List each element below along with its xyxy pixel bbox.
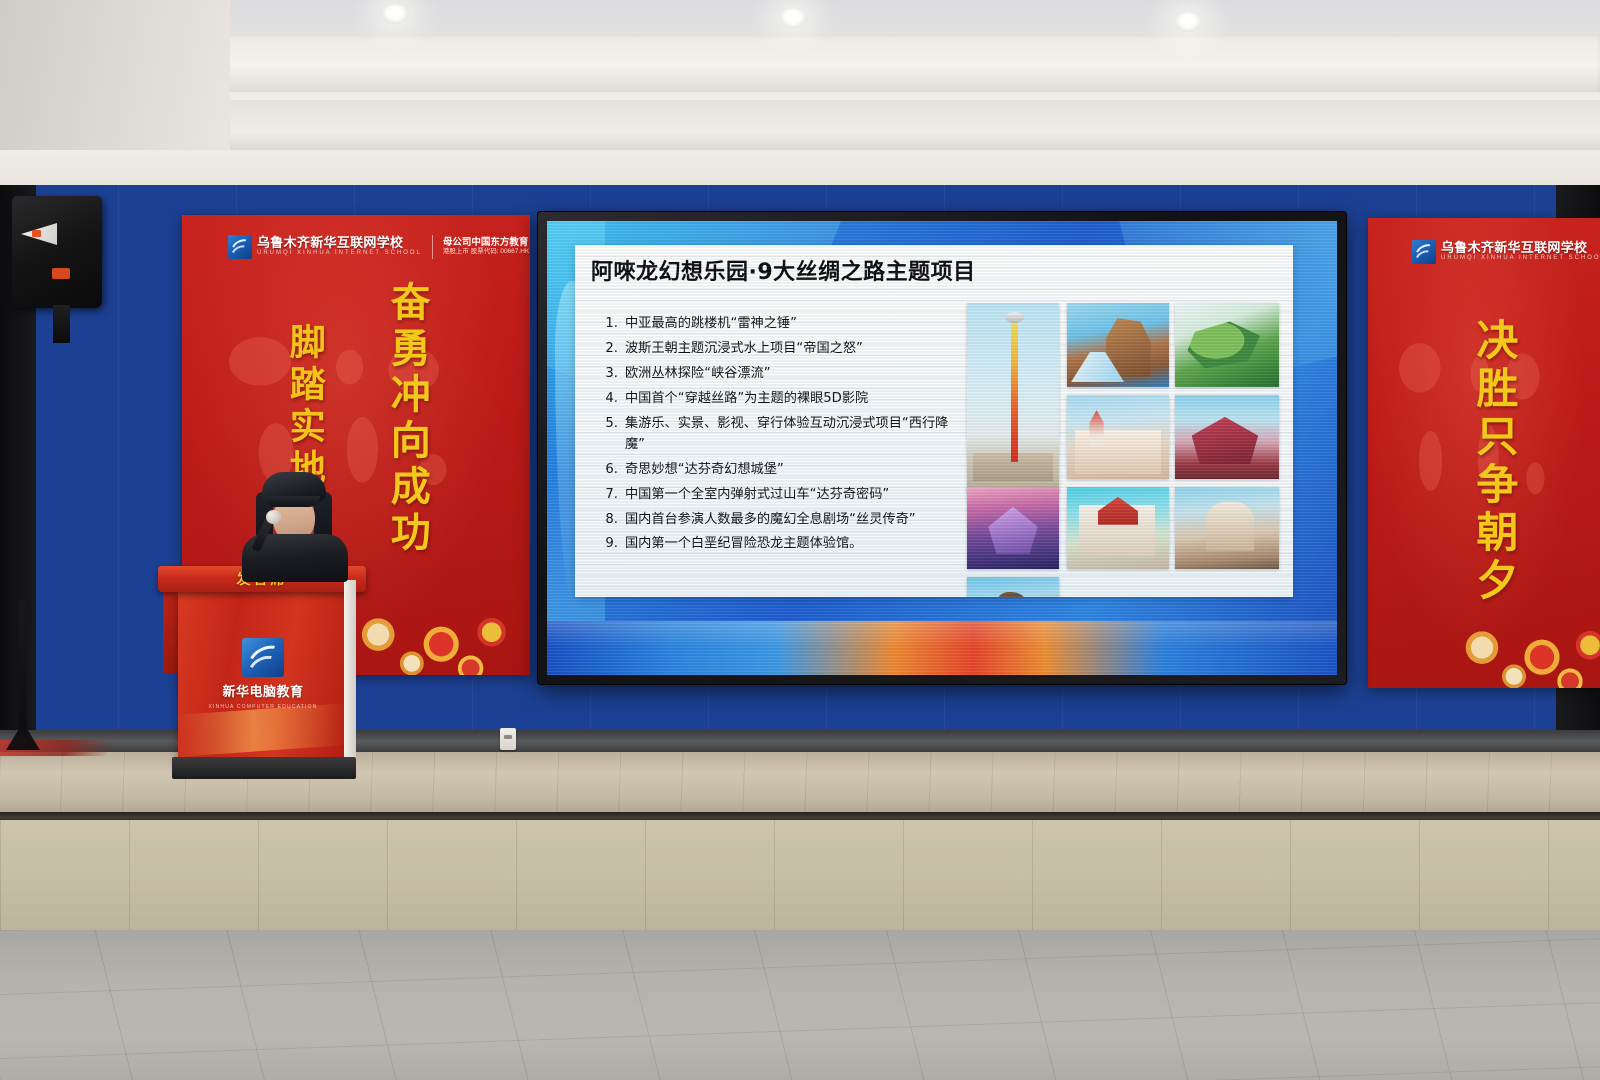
banner-left-logo-en: URUMQI XINHUA INTERNET SCHOOL — [257, 250, 422, 258]
podium-right-post — [344, 580, 356, 770]
list-item: 9. 国内第一个白垩纪冒险恐龙主题体验馆。 — [601, 533, 961, 554]
list-item-text: 中亚最高的跳楼机“雷神之锤” — [625, 313, 961, 334]
list-item-text: 国内第一个白垩纪冒险恐龙主题体验馆。 — [625, 533, 961, 554]
stage-front-panel — [0, 820, 1600, 932]
xinhua-logo-icon: ® — [242, 638, 284, 677]
ceiling-coffer-inner — [215, 100, 1600, 152]
ceiling-coffer-outer — [120, 34, 1600, 92]
list-item: 1. 中亚最高的跳楼机“雷神之锤” — [601, 313, 961, 334]
slide-bullet-list: 1. 中亚最高的跳楼机“雷神之锤” 2. 波斯王朝主题沉浸式水上项目“帝国之怒”… — [601, 313, 961, 558]
list-item-text: 欧洲丛林探险“峡谷漂流” — [625, 363, 961, 384]
list-item-text: 奇思妙想“达芬奇幻想城堡” — [625, 459, 961, 480]
list-item: 2. 波斯王朝主题沉浸式水上项目“帝国之怒” — [601, 338, 961, 359]
list-item: 4. 中国首个“穿越丝路”为主题的裸眼5D影院 — [601, 388, 961, 409]
photo-water-flume-castle — [1067, 303, 1169, 387]
screen-bg-bottom-band — [547, 621, 1337, 675]
photo-dinosaur-museum-gate — [967, 577, 1059, 597]
list-item-text: 国内首台参演人数最多的魔幻全息剧场“丝灵传奇” — [625, 509, 961, 530]
list-item-number: 7. — [601, 484, 618, 505]
photo-drop-tower-ride — [967, 303, 1059, 493]
banner-right: 乌鲁木齐新华互联网学校 URUMQI XINHUA INTERNET SCHOO… — [1368, 218, 1600, 688]
banner-right-slogan-main: 决胜只争朝夕 — [1472, 318, 1515, 606]
photo-night-pagoda-plaza — [967, 487, 1059, 569]
downlight-icon — [779, 8, 807, 28]
banner-right-logo-en: URUMQI XINHUA INTERNET SCHOOL — [1441, 255, 1600, 263]
list-item-text: 波斯王朝主题沉浸式水上项目“帝国之怒” — [625, 338, 961, 359]
list-item-text: 中国首个“穿越丝路”为主题的裸眼5D影院 — [625, 388, 961, 409]
list-item: 6. 奇思妙想“达芬奇幻想城堡” — [601, 459, 961, 480]
logo-divider — [432, 235, 433, 259]
photo-chinese-temple-gate — [1175, 395, 1279, 479]
list-item-text: 中国第一个全室内弹射式过山车“达芬奇密码” — [625, 484, 961, 505]
list-item: 7. 中国第一个全室内弹射式过山车“达芬奇密码” — [601, 484, 961, 505]
podium-brand-en: XINHUA COMPUTER EDUCATION — [208, 704, 317, 710]
list-item-number: 8. — [601, 509, 618, 530]
list-item-number: 9. — [601, 533, 618, 554]
tower-shaft — [1011, 320, 1018, 462]
list-item-text: 集游乐、实景、影视、穿行体验互动沉浸式项目“西行降魔” — [625, 413, 961, 456]
podium-brand-cn: 新华电脑教育 — [223, 681, 304, 700]
photo-fairytale-castle — [1067, 487, 1169, 569]
cap-brim — [264, 496, 320, 507]
power-outlet-icon — [500, 728, 516, 750]
list-item-number: 1. — [601, 313, 618, 334]
podium-brand-block: ® 新华电脑教育 XINHUA COMPUTER EDUCATION — [232, 638, 294, 710]
podium-base — [172, 757, 356, 779]
speaker-brand-logo — [52, 268, 70, 279]
jbl-speaker-icon — [12, 196, 102, 308]
led-screen-surface: 阿唻龙幻想乐园·9大丝绸之路主题项目 1. 中亚最高的跳楼机“雷神之锤” 2. … — [547, 221, 1337, 675]
banner-left-parent-company: 母公司中国东方教育 — [443, 237, 529, 248]
banner-right-logo-cn: 乌鲁木齐新华互联网学校 — [1441, 241, 1600, 255]
speaker-mount-bracket — [53, 305, 70, 343]
photo-park-aerial-map — [1175, 303, 1279, 387]
downlight-icon — [1174, 12, 1202, 32]
microphone-head — [266, 510, 281, 524]
photo-classical-plaza-dome — [1175, 487, 1279, 569]
list-item-number: 3. — [601, 363, 618, 384]
banner-left-logo-cn: 乌鲁木齐新华互联网学校 — [257, 236, 422, 250]
banner-left-slogan-secondary: 脚踏实地 — [286, 323, 323, 491]
tower-top-cabin — [1005, 312, 1024, 323]
auditorium-scene: 乌鲁木齐新华互联网学校 URUMQI XINHUA INTERNET SCHOO… — [0, 0, 1600, 1080]
banner-left-slogan-main: 奋勇冲向成功 — [386, 281, 427, 557]
slide-photo-grid — [967, 303, 1279, 591]
banner-left-logo-row: 乌鲁木齐新华互联网学校 URUMQI XINHUA INTERNET SCHOO… — [228, 235, 529, 259]
banner-right-logo-row: 乌鲁木齐新华互联网学校 URUMQI XINHUA INTERNET SCHOO… — [1412, 240, 1600, 264]
list-item-number: 5. — [601, 413, 618, 456]
peony-decoration — [1438, 578, 1600, 688]
speaker-badge — [32, 230, 41, 237]
list-item: 3. 欧洲丛林探险“峡谷漂流” — [601, 363, 961, 384]
school-logo-icon — [1412, 240, 1436, 264]
speaker-person — [236, 472, 354, 578]
downlight-icon — [381, 4, 409, 24]
photo-european-town-street — [1067, 395, 1169, 479]
ceiling — [0, 0, 1600, 190]
list-item-number: 2. — [601, 338, 618, 359]
slide-title: 阿唻龙幻想乐园·9大丝绸之路主题项目 — [591, 254, 976, 286]
list-item-number: 4. — [601, 388, 618, 409]
presentation-slide: 阿唻龙幻想乐园·9大丝绸之路主题项目 1. 中亚最高的跳楼机“雷神之锤” 2. … — [575, 245, 1293, 597]
hall-floor-tiles — [0, 930, 1600, 1080]
list-item-number: 6. — [601, 459, 618, 480]
list-item: 5. 集游乐、实景、影视、穿行体验互动沉浸式项目“西行降魔” — [601, 413, 961, 456]
school-logo-icon — [228, 235, 252, 259]
banner-left-listing-code: 港股上市 股票代码: 00667.HK — [443, 248, 529, 256]
list-item: 8. 国内首台参演人数最多的魔幻全息剧场“丝灵传奇” — [601, 509, 961, 530]
led-display-screen[interactable]: 阿唻龙幻想乐园·9大丝绸之路主题项目 1. 中亚最高的跳楼机“雷神之锤” 2. … — [538, 212, 1346, 684]
